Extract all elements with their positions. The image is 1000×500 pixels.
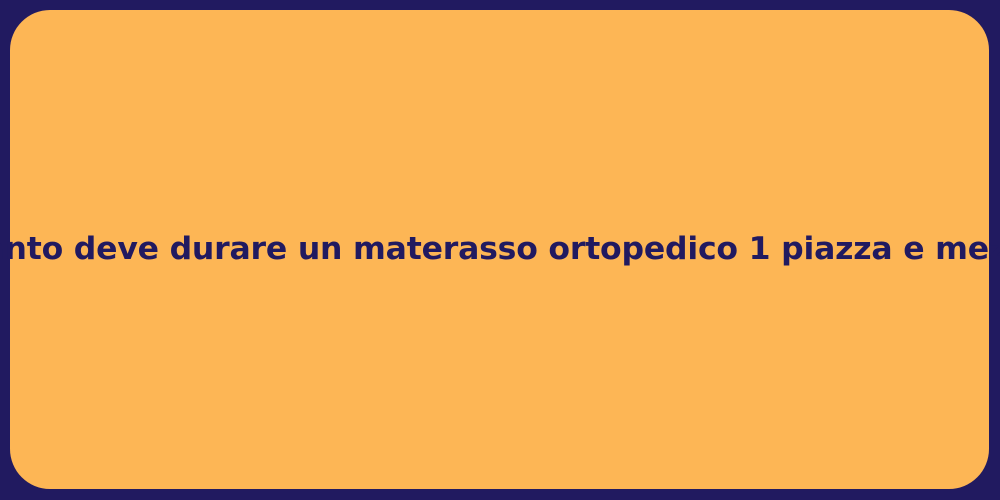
question-headline: Quanto deve durare un materasso ortopedi… — [0, 231, 1000, 269]
question-card-frame: Quanto deve durare un materasso ortopedi… — [0, 0, 1000, 500]
question-card-panel: Quanto deve durare un materasso ortopedi… — [10, 10, 989, 489]
